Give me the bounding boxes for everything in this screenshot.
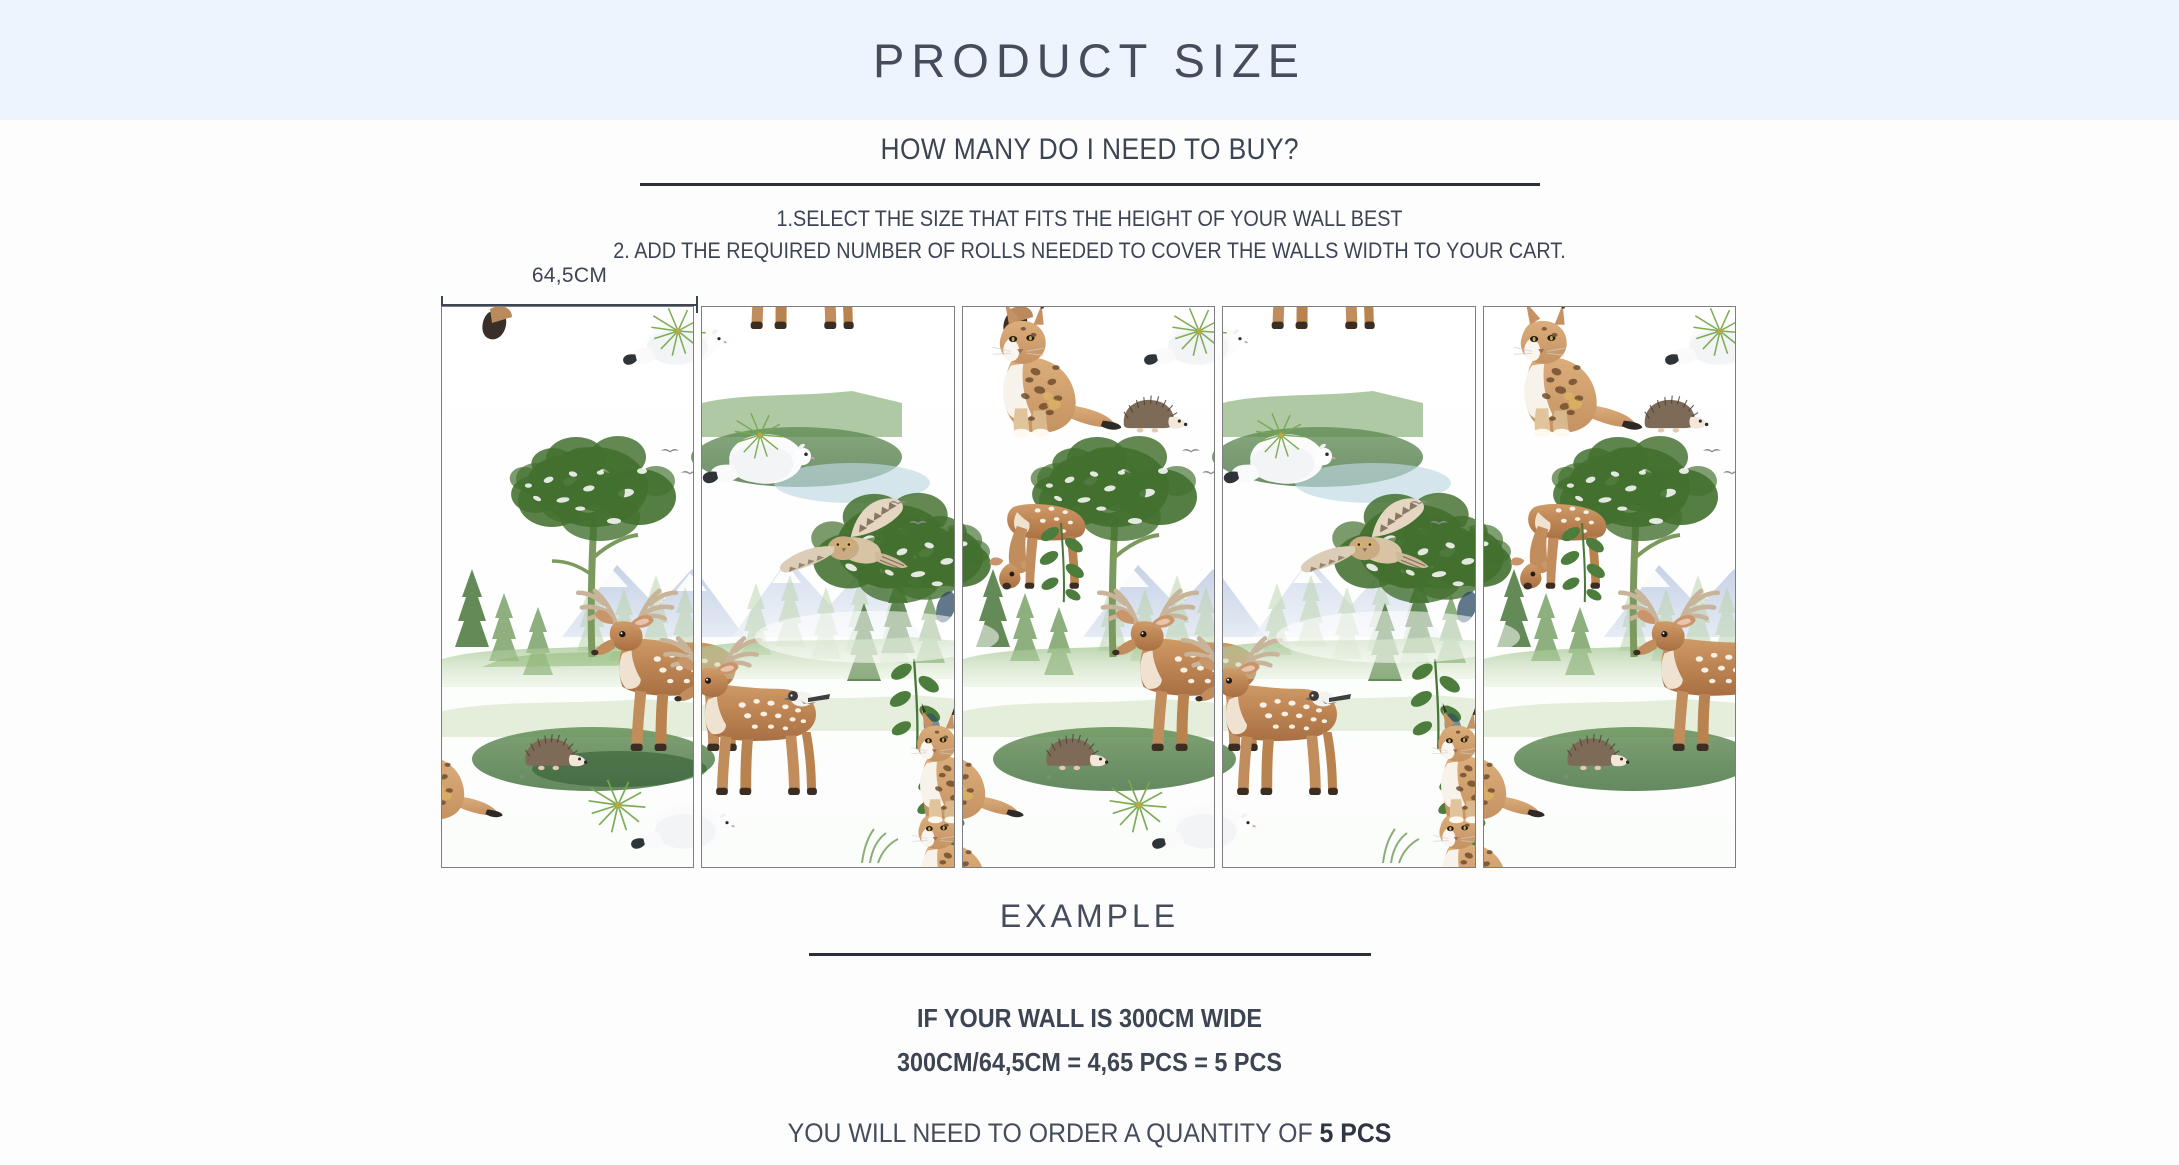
product-size-page: PRODUCT SIZE HOW MANY DO I NEED TO BUY? … <box>0 0 2179 1165</box>
wallpaper-pattern-artwork <box>442 307 694 868</box>
example-footer: YOU WILL NEED TO ORDER A QUANTITY OF 5 P… <box>87 1118 2092 1149</box>
example-section: EXAMPLE IF YOUR WALL IS 300CM WIDE 300CM… <box>0 898 2179 1149</box>
example-divider <box>809 953 1371 956</box>
roll-width-dimension: 64,5CM <box>441 264 698 312</box>
wallpaper-panel-3[interactable] <box>962 306 1215 868</box>
wallpaper-pattern-artwork <box>701 307 954 868</box>
wallpaper-panel-strip <box>441 306 1736 868</box>
example-heading: EXAMPLE <box>0 898 2179 935</box>
example-line-1: IF YOUR WALL IS 300CM WIDE <box>109 996 2070 1040</box>
intro-steps: 1.SELECT THE SIZE THAT FITS THE HEIGHT O… <box>0 203 2179 267</box>
example-footer-prefix: YOU WILL NEED TO ORDER A QUANTITY OF <box>788 1118 1320 1148</box>
wallpaper-panel-1[interactable] <box>441 306 694 868</box>
intro-step-2: 2. ADD THE REQUIRED NUMBER OF ROLLS NEED… <box>109 235 2070 267</box>
header-band: PRODUCT SIZE <box>0 0 2179 120</box>
wallpaper-panel-4[interactable] <box>1222 306 1475 868</box>
example-calculation: IF YOUR WALL IS 300CM WIDE 300CM/64,5CM … <box>0 996 2179 1084</box>
example-line-2: 300CM/64,5CM = 4,65 PCS = 5 PCS <box>109 1040 2070 1084</box>
intro-step-1: 1.SELECT THE SIZE THAT FITS THE HEIGHT O… <box>109 203 2070 235</box>
page-title: PRODUCT SIZE <box>873 33 1306 88</box>
dimension-label: 64,5CM <box>441 264 698 288</box>
intro-divider <box>640 183 1540 186</box>
example-footer-quantity: 5 PCS <box>1320 1118 1392 1148</box>
wallpaper-pattern-artwork <box>962 307 1215 868</box>
wallpaper-panel-5[interactable] <box>1483 306 1736 868</box>
intro-section: HOW MANY DO I NEED TO BUY? 1.SELECT THE … <box>0 133 2179 267</box>
wallpaper-pattern-artwork <box>1222 307 1475 868</box>
wallpaper-pattern-artwork <box>1483 307 1736 868</box>
intro-heading: HOW MANY DO I NEED TO BUY? <box>880 133 1298 167</box>
wallpaper-panel-2[interactable] <box>701 306 954 868</box>
